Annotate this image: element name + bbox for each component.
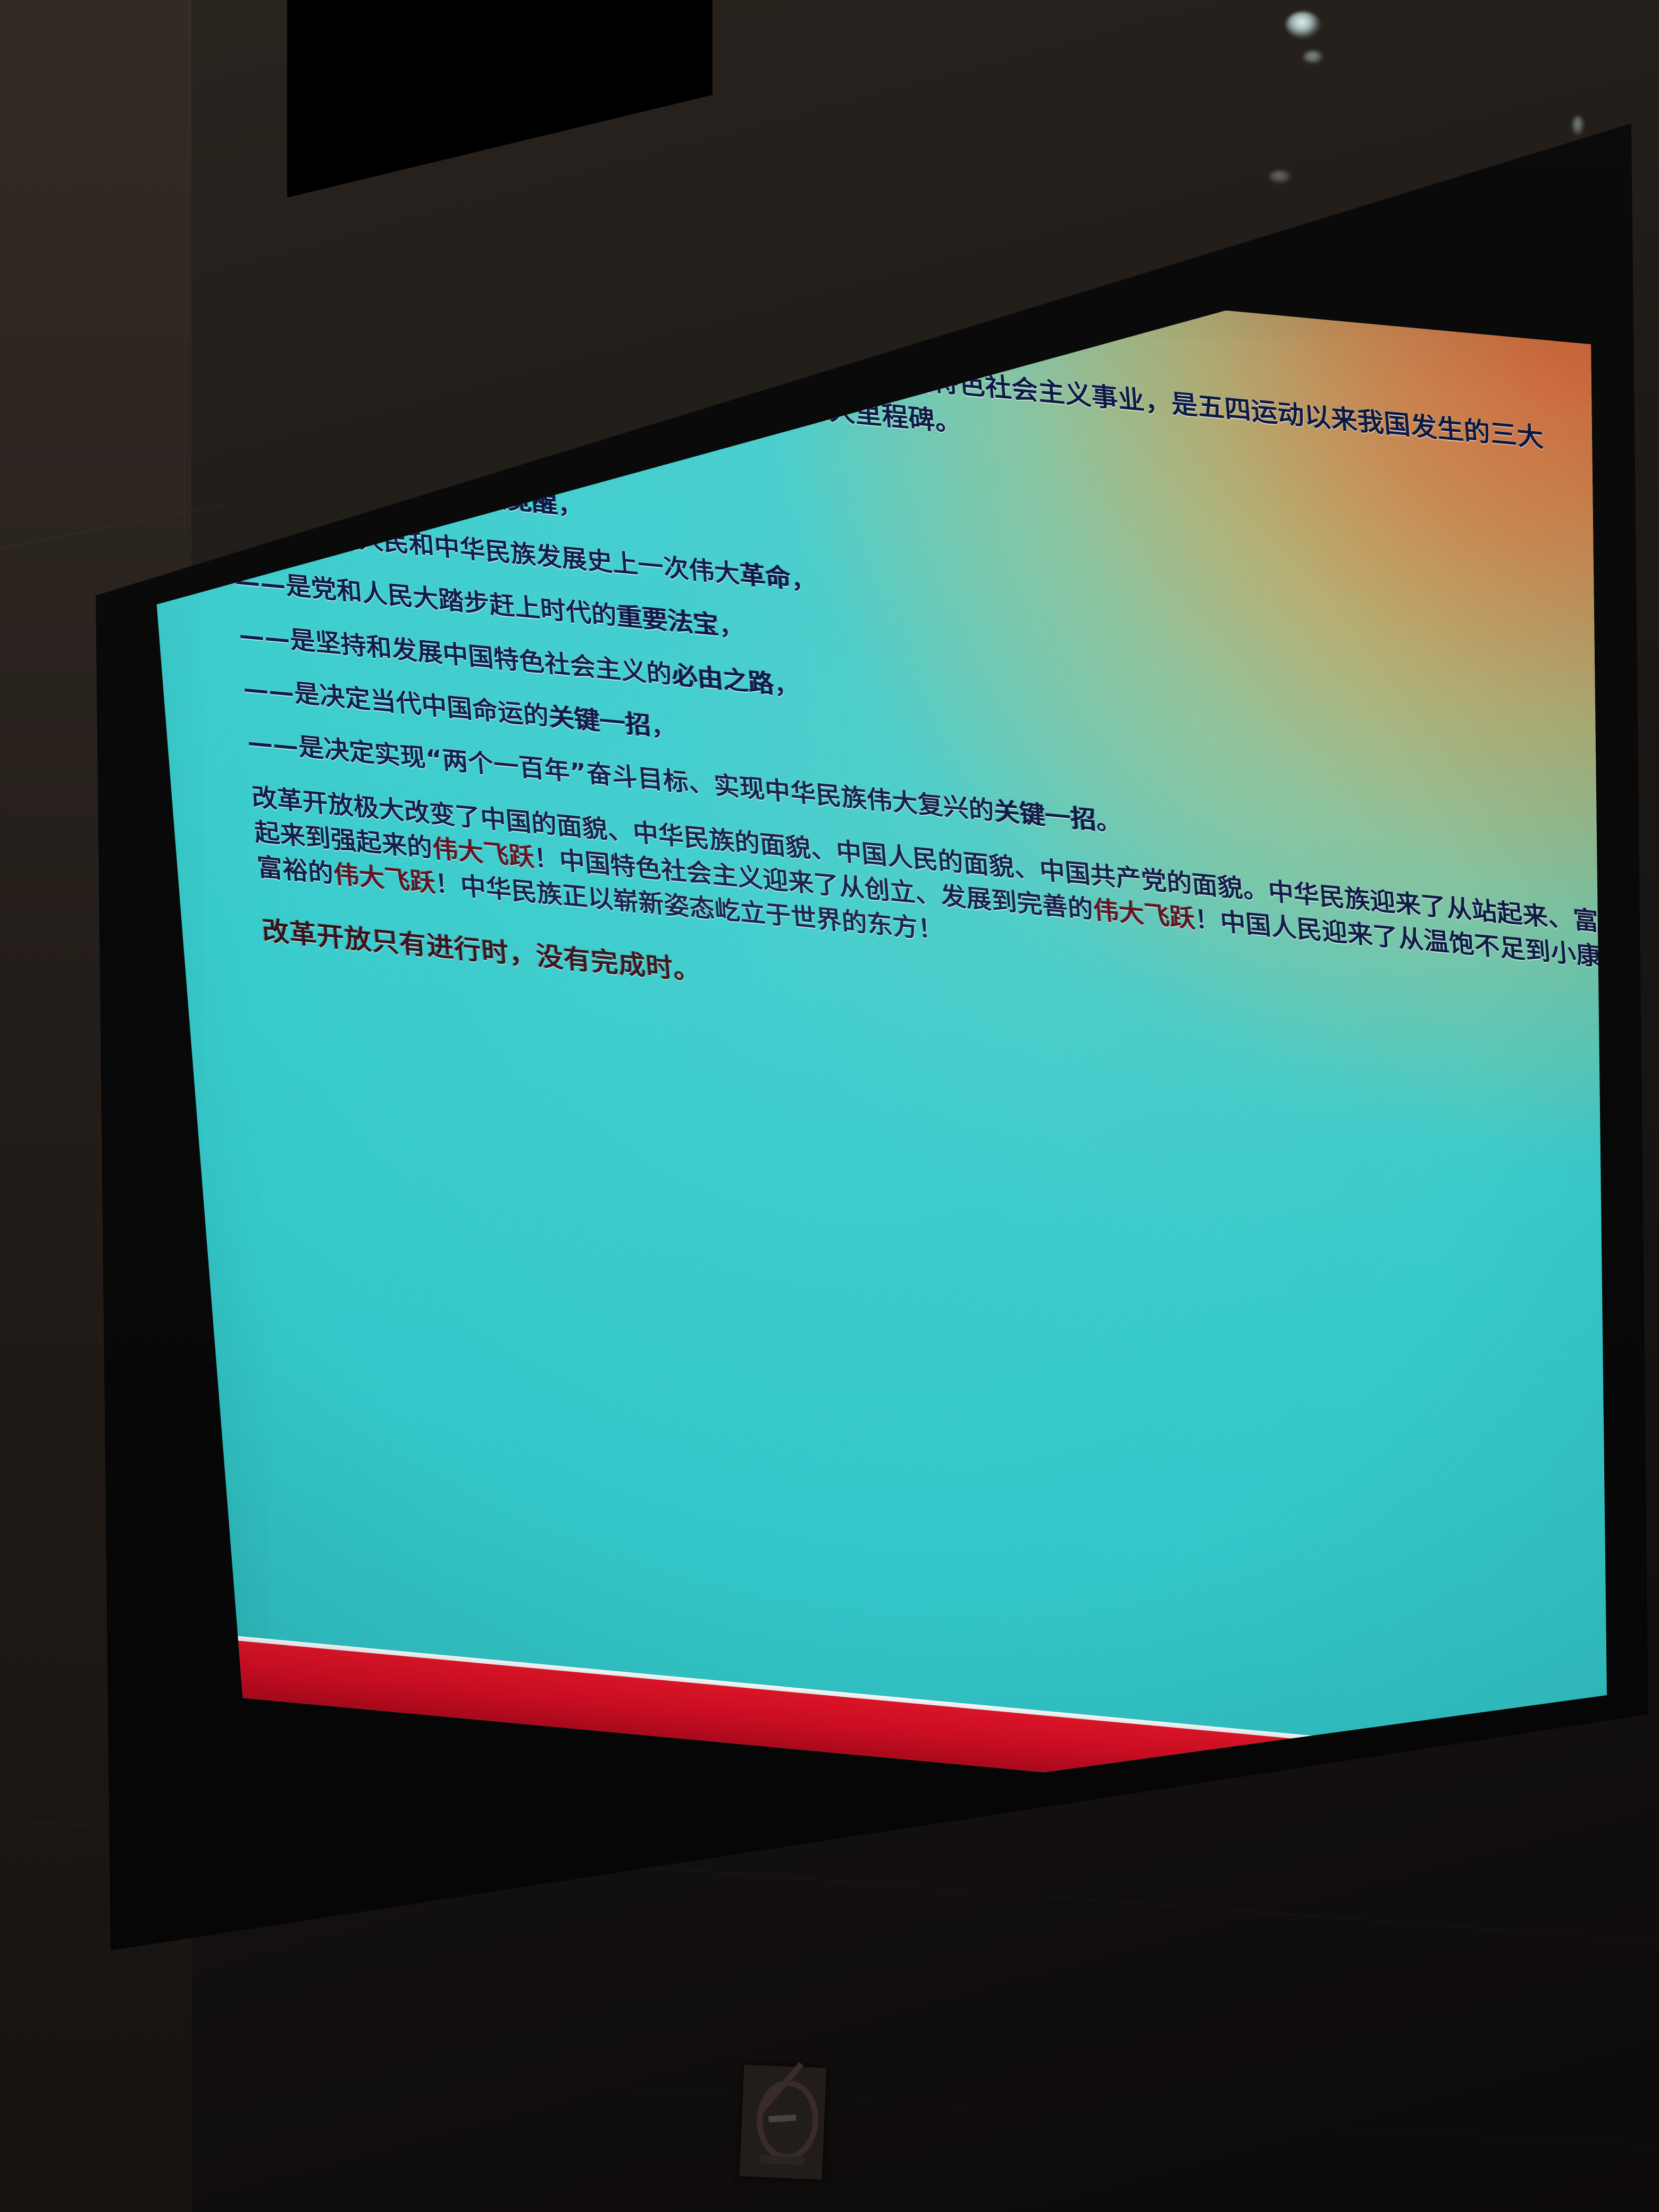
ceiling-light-icon <box>1286 12 1321 38</box>
bullet-emphasis: 关键一招 <box>993 797 1097 835</box>
bullet-dash: —— <box>238 620 291 654</box>
leap-emphasis: 伟大飞跃 <box>1092 895 1196 934</box>
ceiling-light-icon <box>1572 116 1585 136</box>
bullet-tail: ， <box>556 490 584 521</box>
bullet-tail: 。 <box>1095 806 1122 837</box>
no-smoking-sign-icon <box>740 2065 827 2180</box>
bullet-emphasis: 必由之路 <box>671 660 775 699</box>
wall-seam-bottom <box>0 2052 1656 2147</box>
bullet-tail: ， <box>650 711 677 743</box>
ceiling-dark-panel <box>287 0 713 202</box>
bullet-lead: 是党和人民大踏步赶上时代的 <box>284 571 618 631</box>
bullet-tail: ， <box>790 565 817 596</box>
sign-caption-strip <box>759 2155 805 2165</box>
bullet-lead: 是坚持和发展中国特色社会主义的 <box>289 625 673 689</box>
bullet-tail: ， <box>773 670 800 701</box>
ceiling-light-icon <box>1303 51 1324 64</box>
leap-emphasis: 伟大飞跃 <box>431 834 535 873</box>
bullet-lead: 是决定当代中国命运的 <box>293 678 550 731</box>
leap-emphasis: 伟大飞跃 <box>332 860 436 899</box>
bullet-dash: —— <box>246 727 299 761</box>
bullet-emphasis: 关键一招 <box>548 702 652 741</box>
bullet-emphasis: 重要法宝 <box>616 602 720 641</box>
ceiling-light-icon <box>1269 170 1292 184</box>
bullet-tail: ， <box>718 611 745 643</box>
bullet-emphasis: 革命 <box>739 560 792 594</box>
bullet-dash: —— <box>242 674 295 708</box>
